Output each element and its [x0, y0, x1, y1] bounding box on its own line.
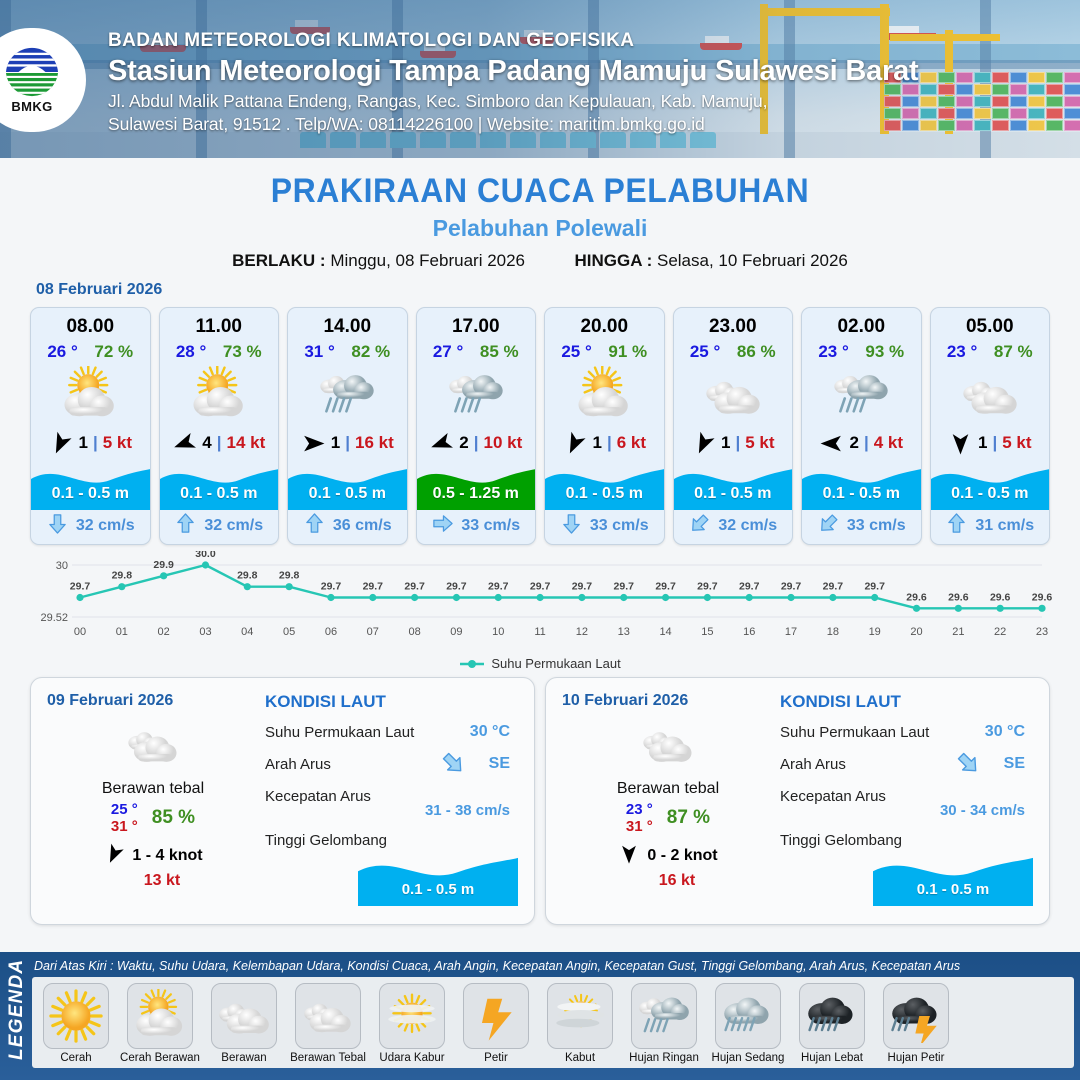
card-current-speed: 33 cm/s	[590, 517, 649, 535]
card-temperature: 25 °	[561, 342, 591, 362]
card-temperature: 26 °	[47, 342, 77, 362]
svg-text:14: 14	[659, 626, 671, 638]
wind-separator: |	[345, 433, 350, 453]
wind-direction-arrow-icon	[172, 431, 197, 456]
hourly-forecast-cards: 08.00 26 ° 72 %	[0, 299, 1080, 545]
wind-separator: |	[735, 433, 740, 453]
card-temp-humidity: 23 ° 87 %	[931, 338, 1050, 362]
svg-text:23: 23	[1036, 626, 1048, 638]
header-address-line2: Sulawesi Barat, 91512 . Telp/WA: 0811422…	[108, 114, 1068, 135]
card-wave: 0.1 - 0.5 m	[802, 460, 921, 510]
svg-text:30.0: 30.0	[195, 551, 216, 560]
card-wind-speed: 1	[721, 433, 730, 453]
card-wave-height: 0.1 - 0.5 m	[288, 485, 407, 503]
daily-date: 09 Februari 2026	[47, 692, 259, 710]
svg-text:29.7: 29.7	[404, 581, 425, 593]
svg-text:29.7: 29.7	[614, 581, 635, 593]
card-temp-humidity: 25 ° 91 %	[545, 338, 664, 362]
weather-cerah-berawan-icon	[160, 364, 279, 426]
wave-height-label: Tinggi Gelombang	[780, 832, 902, 849]
weather-kabut-icon	[547, 983, 613, 1049]
current-direction-row: Arah Arus SE	[780, 748, 1033, 780]
card-wave: 0.1 - 0.5 m	[31, 460, 150, 510]
card-current: 33 cm/s	[545, 510, 664, 544]
svg-text:00: 00	[74, 626, 86, 638]
card-current: 32 cm/s	[160, 510, 279, 544]
card-temperature: 31 °	[304, 342, 334, 362]
card-wave: 0.1 - 0.5 m	[931, 460, 1050, 510]
valid-until-value: Selasa, 10 Februari 2026	[657, 251, 848, 270]
card-wind-speed: 1	[592, 433, 601, 453]
wind-direction-arrow-icon	[429, 431, 454, 456]
card-wind: 2 | 4 kt	[802, 426, 921, 460]
card-wind-gust: 16 kt	[355, 433, 394, 453]
wave-height-label: Tinggi Gelombang	[265, 832, 387, 849]
svg-text:29.7: 29.7	[697, 581, 718, 593]
daily-forecast-panel: 09 Februari 2026	[30, 677, 535, 925]
card-current-speed: 36 cm/s	[333, 517, 392, 535]
card-current: 33 cm/s	[802, 510, 921, 544]
card-wind-speed: 2	[459, 433, 468, 453]
legend-item-label: Cerah Berawan	[120, 1052, 200, 1064]
current-direction-arrow-icon	[174, 512, 197, 540]
hourly-card: 17.00 27 ° 85 %	[416, 307, 537, 545]
valid-from-value: Minggu, 08 Februari 2026	[330, 251, 525, 270]
weather-berawan-tebal-icon	[562, 716, 774, 774]
svg-text:29.7: 29.7	[363, 581, 384, 593]
card-wind-gust: 14 kt	[226, 433, 265, 453]
card-wave-height: 0.5 - 1.25 m	[417, 485, 536, 503]
weather-berawan-tebal-icon	[295, 983, 361, 1049]
card-time: 02.00	[802, 308, 921, 338]
weather-hujan-petir-icon	[883, 983, 949, 1049]
legend-item: Hujan Ringan	[625, 983, 703, 1064]
svg-text:30: 30	[56, 560, 68, 572]
hourly-date-label: 08 Februari 2026	[36, 281, 162, 298]
card-current-speed: 33 cm/s	[461, 517, 520, 535]
current-direction-label: Arah Arus	[780, 756, 846, 773]
svg-text:29.7: 29.7	[572, 581, 593, 593]
card-current: 31 cm/s	[931, 510, 1050, 544]
daily-wind-range: 1 - 4 knot	[132, 847, 202, 865]
daily-wind-range: 0 - 2 knot	[647, 847, 717, 865]
card-wave-height: 0.1 - 0.5 m	[802, 485, 921, 503]
wind-direction-arrow-icon	[48, 431, 73, 456]
sst-chart-plot: 3029.5229.70029.80129.90230.00329.80429.…	[28, 551, 1052, 643]
svg-text:19: 19	[869, 626, 881, 638]
hourly-card: 02.00 23 ° 93 %	[801, 307, 922, 545]
current-direction-arrow-icon	[955, 750, 981, 780]
chart-legend-label: Suhu Permukaan Laut	[491, 656, 620, 671]
card-wave: 0.5 - 1.25 m	[417, 460, 536, 510]
chart-legend-marker	[459, 658, 485, 670]
daily-date: 10 Februari 2026	[562, 692, 774, 710]
card-wave: 0.1 - 0.5 m	[674, 460, 793, 510]
sea-conditions-title: KONDISI LAUT	[780, 692, 1033, 712]
legend-side-label: LEGENDA	[6, 962, 28, 1060]
legend-item-label: Hujan Petir	[888, 1052, 945, 1064]
weather-berawan-icon	[211, 983, 277, 1049]
wind-separator: |	[864, 433, 869, 453]
hourly-card: 11.00 28 ° 73 %	[159, 307, 280, 545]
daily-condition: Berawan tebal	[47, 780, 259, 798]
legend-content: Dari Atas Kiri : Waktu, Suhu Udara, Kele…	[30, 952, 1080, 1080]
card-temp-humidity: 23 ° 93 %	[802, 338, 921, 362]
card-wave: 0.1 - 0.5 m	[288, 460, 407, 510]
legend-item: Hujan Lebat	[793, 983, 871, 1064]
daily-humidity: 87 %	[667, 807, 710, 829]
hourly-date-row: 08 Februari 2026	[0, 271, 1080, 299]
svg-text:29.7: 29.7	[321, 581, 342, 593]
daily-wave-height: 0.1 - 0.5 m	[873, 881, 1033, 898]
weather-hujan-lebat-icon	[799, 983, 865, 1049]
current-direction-arrow-icon	[560, 512, 583, 540]
daily-wave-height: 0.1 - 0.5 m	[358, 881, 518, 898]
current-direction-arrow-icon	[440, 750, 466, 780]
header-org-name: BADAN METEOROLOGI KLIMATOLOGI DAN GEOFIS…	[108, 30, 1068, 52]
card-wind-gust: 5 kt	[1002, 433, 1031, 453]
weather-cerah-icon	[43, 983, 109, 1049]
card-wind: 1 | 16 kt	[288, 426, 407, 460]
card-temp-humidity: 26 ° 72 %	[31, 338, 150, 362]
card-wave: 0.1 - 0.5 m	[545, 460, 664, 510]
svg-text:08: 08	[408, 626, 420, 638]
card-wind: 1 | 6 kt	[545, 426, 664, 460]
wind-direction-arrow-icon	[691, 431, 716, 456]
header-text-block: BADAN METEOROLOGI KLIMATOLOGI DAN GEOFIS…	[108, 30, 1068, 135]
svg-text:29.6: 29.6	[948, 591, 969, 603]
card-temperature: 23 °	[818, 342, 848, 362]
daily-temp-max: 31 °	[111, 818, 138, 835]
card-current-speed: 31 cm/s	[975, 517, 1034, 535]
legend-bar: LEGENDA Dari Atas Kiri : Waktu, Suhu Uda…	[0, 952, 1080, 1080]
wind-direction-arrow-icon	[618, 843, 640, 870]
card-wind-gust: 4 kt	[874, 433, 903, 453]
weather-berawan-icon	[931, 364, 1050, 426]
card-humidity: 93 %	[865, 342, 904, 362]
current-speed-label: Kecepatan Arus	[265, 788, 371, 805]
legend-item: Hujan Petir	[877, 983, 955, 1064]
card-wave-height: 0.1 - 0.5 m	[160, 485, 279, 503]
weather-berawan-icon	[674, 364, 793, 426]
card-time: 05.00	[931, 308, 1050, 338]
legend-item-label: Hujan Lebat	[801, 1052, 863, 1064]
svg-text:29.8: 29.8	[279, 570, 300, 582]
daily-forecast-panel: 10 Februari 2026	[545, 677, 1050, 925]
wind-direction-arrow-icon	[948, 431, 973, 456]
daily-temps: 23 ° 31 ° 87 %	[562, 801, 774, 836]
card-wind: 4 | 14 kt	[160, 426, 279, 460]
current-speed-value: 30 - 34 cm/s	[940, 802, 1025, 819]
valid-from-label: BERLAKU :	[232, 251, 326, 270]
svg-text:29.7: 29.7	[488, 581, 509, 593]
svg-text:01: 01	[116, 626, 128, 638]
daily-sea-conditions: KONDISI LAUT Suhu Permukaan Laut 30 °C A…	[774, 692, 1033, 910]
sst-label: Suhu Permukaan Laut	[780, 724, 929, 741]
current-direction-arrow-icon	[303, 512, 326, 540]
svg-text:29.6: 29.6	[906, 591, 927, 603]
card-wind: 1 | 5 kt	[931, 426, 1050, 460]
title-section: PRAKIRAAN CUACA PELABUHAN Pelabuhan Pole…	[0, 158, 1080, 271]
valid-until-label: HINGGA :	[574, 251, 652, 270]
daily-wind: 1 - 4 knot	[47, 843, 259, 870]
svg-text:20: 20	[910, 626, 922, 638]
card-wind-speed: 1	[78, 433, 87, 453]
svg-text:09: 09	[450, 626, 462, 638]
daily-left: 10 Februari 2026	[562, 692, 774, 910]
card-temperature: 28 °	[176, 342, 206, 362]
header-station-name: Stasiun Meteorologi Tampa Padang Mamuju …	[108, 55, 1068, 88]
legend-item-label: Hujan Ringan	[629, 1052, 699, 1064]
legend-side-band: LEGENDA	[0, 952, 30, 1080]
svg-text:29.7: 29.7	[781, 581, 802, 593]
wind-direction-arrow-icon	[819, 431, 844, 456]
card-temperature: 27 °	[433, 342, 463, 362]
svg-text:29.6: 29.6	[990, 591, 1011, 603]
wind-direction-arrow-icon	[562, 431, 587, 456]
current-direction-arrow-icon	[945, 512, 968, 540]
svg-text:02: 02	[158, 626, 170, 638]
current-direction-label: Arah Arus	[265, 756, 331, 773]
weather-hujan-ringan-icon	[631, 983, 697, 1049]
sst-value: 30 °C	[985, 723, 1025, 741]
sst-row: Suhu Permukaan Laut 30 °C	[265, 716, 518, 748]
card-humidity: 82 %	[351, 342, 390, 362]
wind-direction-arrow-icon	[301, 431, 326, 456]
card-time: 11.00	[160, 308, 279, 338]
wind-direction-arrow-icon	[103, 843, 125, 870]
svg-text:13: 13	[618, 626, 630, 638]
weather-udara-kabur-icon	[379, 983, 445, 1049]
svg-text:29.9: 29.9	[153, 559, 174, 571]
svg-text:12: 12	[576, 626, 588, 638]
daily-condition: Berawan tebal	[562, 780, 774, 798]
svg-text:10: 10	[492, 626, 504, 638]
daily-sea-conditions: KONDISI LAUT Suhu Permukaan Laut 30 °C A…	[259, 692, 518, 910]
legend-item-label: Udara Kabur	[379, 1052, 444, 1064]
card-time: 23.00	[674, 308, 793, 338]
card-current-speed: 32 cm/s	[76, 517, 135, 535]
weather-cerah-berawan-icon	[31, 364, 150, 426]
card-wind-gust: 6 kt	[617, 433, 646, 453]
svg-text:29.8: 29.8	[112, 570, 133, 582]
card-wind-speed: 4	[202, 433, 211, 453]
card-wind: 2 | 10 kt	[417, 426, 536, 460]
svg-text:29.6: 29.6	[1032, 591, 1052, 603]
card-time: 20.00	[545, 308, 664, 338]
card-time: 08.00	[31, 308, 150, 338]
card-temp-humidity: 25 ° 86 %	[674, 338, 793, 362]
weather-hujan-ringan-icon	[802, 364, 921, 426]
svg-text:29.7: 29.7	[864, 581, 885, 593]
card-temperature: 23 °	[947, 342, 977, 362]
current-speed-value: 31 - 38 cm/s	[425, 802, 510, 819]
card-temp-humidity: 27 ° 85 %	[417, 338, 536, 362]
card-wind-gust: 5 kt	[745, 433, 774, 453]
sea-conditions-title: KONDISI LAUT	[265, 692, 518, 712]
legend-note: Dari Atas Kiri : Waktu, Suhu Udara, Kele…	[32, 955, 1074, 977]
svg-text:21: 21	[952, 626, 964, 638]
legend-items: Cerah Cerah Berawan	[32, 977, 1074, 1068]
wind-separator: |	[607, 433, 612, 453]
svg-text:29.7: 29.7	[655, 581, 676, 593]
daily-humidity: 85 %	[152, 807, 195, 829]
daily-temp-max: 31 °	[626, 818, 653, 835]
svg-text:11: 11	[534, 626, 545, 638]
svg-text:22: 22	[994, 626, 1006, 638]
chart-legend: Suhu Permukaan Laut	[0, 656, 1080, 671]
svg-text:15: 15	[701, 626, 713, 638]
card-wave-height: 0.1 - 0.5 m	[31, 485, 150, 503]
card-humidity: 85 %	[480, 342, 519, 362]
weather-hujan-ringan-icon	[417, 364, 536, 426]
svg-text:17: 17	[785, 626, 797, 638]
daily-wave-graphic: 0.1 - 0.5 m	[873, 850, 1033, 906]
sst-label: Suhu Permukaan Laut	[265, 724, 414, 741]
weather-berawan-tebal-icon	[47, 716, 259, 774]
header-address-line1: Jl. Abdul Malik Pattana Endeng, Rangas, …	[108, 91, 1068, 112]
svg-text:03: 03	[199, 626, 211, 638]
card-time: 14.00	[288, 308, 407, 338]
wind-separator: |	[992, 433, 997, 453]
weather-petir-icon	[463, 983, 529, 1049]
legend-item: Berawan Tebal	[289, 983, 367, 1064]
page-header: BMKG BADAN METEOROLOGI KLIMATOLOGI DAN G…	[0, 0, 1080, 158]
legend-item-label: Petir	[484, 1052, 508, 1064]
svg-text:04: 04	[241, 626, 253, 638]
daily-forecast-panels: 09 Februari 2026	[0, 671, 1080, 925]
card-current: 33 cm/s	[417, 510, 536, 544]
current-direction-value: SE	[1004, 755, 1025, 773]
card-wind-speed: 1	[978, 433, 987, 453]
port-name: Pelabuhan Polewali	[0, 215, 1080, 242]
card-wind-speed: 1	[331, 433, 340, 453]
current-direction-arrow-icon	[431, 512, 454, 540]
legend-item: Berawan	[205, 983, 283, 1064]
card-current-speed: 32 cm/s	[204, 517, 263, 535]
hourly-card: 08.00 26 ° 72 %	[30, 307, 151, 545]
validity-range: BERLAKU : Minggu, 08 Februari 2026 HINGG…	[0, 251, 1080, 271]
card-humidity: 72 %	[94, 342, 133, 362]
wind-separator: |	[217, 433, 222, 453]
current-speed-row: Kecepatan Arus 30 - 34 cm/s	[780, 780, 1033, 812]
svg-text:18: 18	[827, 626, 839, 638]
daily-temp-min: 25 °	[111, 801, 138, 818]
sst-row: Suhu Permukaan Laut 30 °C	[780, 716, 1033, 748]
current-speed-row: Kecepatan Arus 31 - 38 cm/s	[265, 780, 518, 812]
card-wind-gust: 10 kt	[483, 433, 522, 453]
page-title: PRAKIRAAN CUACA PELABUHAN	[32, 172, 1047, 211]
card-humidity: 87 %	[994, 342, 1033, 362]
legend-item: Petir	[457, 983, 535, 1064]
card-wave-height: 0.1 - 0.5 m	[545, 485, 664, 503]
hourly-card: 23.00 25 ° 86 %	[673, 307, 794, 545]
svg-text:07: 07	[367, 626, 379, 638]
daily-left: 09 Februari 2026	[47, 692, 259, 910]
legend-item-label: Hujan Sedang	[712, 1052, 785, 1064]
current-direction-arrow-icon	[46, 512, 69, 540]
hourly-card: 05.00 23 ° 87 %	[930, 307, 1051, 545]
svg-text:29.7: 29.7	[70, 581, 91, 593]
card-current-speed: 33 cm/s	[847, 517, 906, 535]
card-time: 17.00	[417, 308, 536, 338]
legend-item: Kabut	[541, 983, 619, 1064]
legend-item: Hujan Sedang	[709, 983, 787, 1064]
svg-text:29.7: 29.7	[530, 581, 551, 593]
card-wind: 1 | 5 kt	[31, 426, 150, 460]
card-wind: 1 | 5 kt	[674, 426, 793, 460]
legend-item: Udara Kabur	[373, 983, 451, 1064]
svg-text:29.7: 29.7	[446, 581, 467, 593]
current-speed-label: Kecepatan Arus	[780, 788, 886, 805]
daily-gust: 16 kt	[562, 872, 774, 890]
hourly-card: 14.00 31 ° 82 %	[287, 307, 408, 545]
legend-item-label: Berawan	[221, 1052, 266, 1064]
card-wave-height: 0.1 - 0.5 m	[931, 485, 1050, 503]
hourly-card: 20.00 25 ° 91 %	[544, 307, 665, 545]
daily-temp-min: 23 °	[626, 801, 653, 818]
card-wind-gust: 5 kt	[103, 433, 132, 453]
svg-text:29.7: 29.7	[823, 581, 844, 593]
card-wave: 0.1 - 0.5 m	[160, 460, 279, 510]
weather-cerah-berawan-icon	[127, 983, 193, 1049]
legend-item-label: Kabut	[565, 1052, 595, 1064]
wind-separator: |	[474, 433, 479, 453]
card-current: 32 cm/s	[31, 510, 150, 544]
svg-text:16: 16	[743, 626, 755, 638]
svg-text:29.7: 29.7	[739, 581, 760, 593]
svg-text:29.52: 29.52	[40, 612, 68, 624]
card-temp-humidity: 31 ° 82 %	[288, 338, 407, 362]
sst-value: 30 °C	[470, 723, 510, 741]
bmkg-logo-text: BMKG	[11, 99, 52, 114]
card-humidity: 91 %	[608, 342, 647, 362]
card-wind-speed: 2	[849, 433, 858, 453]
current-direction-arrow-icon	[817, 512, 840, 540]
legend-item: Cerah	[37, 983, 115, 1064]
card-temperature: 25 °	[690, 342, 720, 362]
daily-gust: 13 kt	[47, 872, 259, 890]
weather-cerah-berawan-icon	[545, 364, 664, 426]
legend-item: Cerah Berawan	[121, 983, 199, 1064]
weather-hujan-ringan-icon	[288, 364, 407, 426]
card-humidity: 73 %	[223, 342, 262, 362]
card-current: 32 cm/s	[674, 510, 793, 544]
wind-separator: |	[93, 433, 98, 453]
daily-wind: 0 - 2 knot	[562, 843, 774, 870]
card-current-speed: 32 cm/s	[718, 517, 777, 535]
card-wave-height: 0.1 - 0.5 m	[674, 485, 793, 503]
current-direction-value: SE	[489, 755, 510, 773]
bmkg-logo-mark	[3, 46, 61, 98]
weather-hujan-sedang-icon	[715, 983, 781, 1049]
daily-wave-graphic: 0.1 - 0.5 m	[358, 850, 518, 906]
current-direction-arrow-icon	[688, 512, 711, 540]
card-humidity: 86 %	[737, 342, 776, 362]
svg-text:06: 06	[325, 626, 337, 638]
legend-item-label: Cerah	[60, 1052, 91, 1064]
daily-temps: 25 ° 31 ° 85 %	[47, 801, 259, 836]
svg-text:29.8: 29.8	[237, 570, 258, 582]
current-direction-row: Arah Arus SE	[265, 748, 518, 780]
legend-item-label: Berawan Tebal	[290, 1052, 366, 1064]
card-current: 36 cm/s	[288, 510, 407, 544]
sst-chart: 3029.5229.70029.80129.90230.00329.80429.…	[28, 551, 1052, 655]
card-temp-humidity: 28 ° 73 %	[160, 338, 279, 362]
svg-text:05: 05	[283, 626, 295, 638]
